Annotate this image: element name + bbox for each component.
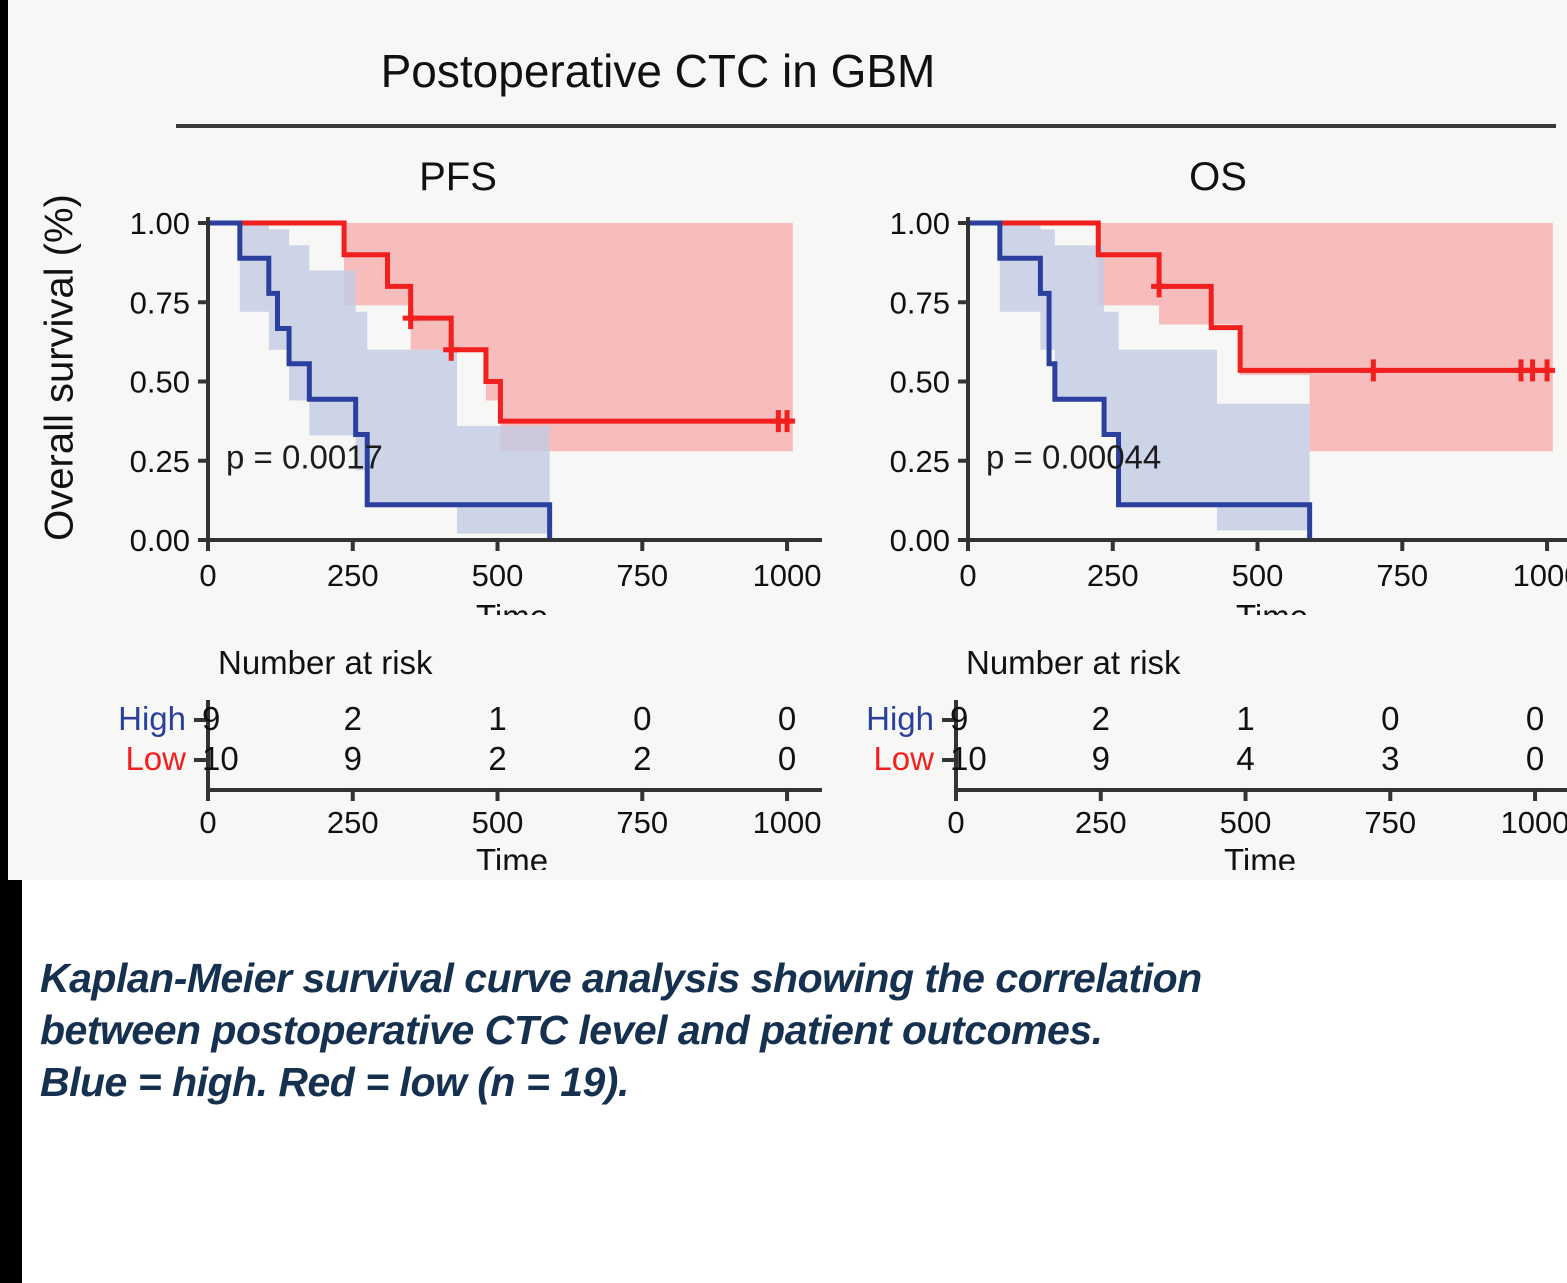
risk-x-tick-label: 1000: [753, 805, 822, 840]
risk-row-label-low: Low: [125, 740, 186, 777]
risk-cell: 2: [488, 740, 506, 777]
risk-x-tick-label: 1000: [1501, 805, 1567, 840]
x-axis-title: Time: [1236, 598, 1308, 615]
y-tick-label: 0.50: [130, 365, 190, 400]
risk-cell: 1: [488, 700, 506, 737]
risk-x-tick-label: 750: [616, 805, 668, 840]
x-axis-title: Time: [476, 598, 548, 615]
risk-cell: 0: [1381, 700, 1399, 737]
y-tick-label: 0.25: [890, 444, 950, 479]
caption-area: Kaplan-Meier survival curve analysis sho…: [22, 880, 1567, 1283]
risk-cell: 10: [202, 740, 239, 777]
risk-cell: 9: [1092, 740, 1110, 777]
x-tick-label: 750: [616, 558, 668, 593]
os-risk-table: Number at riskHigh92100Low10943002505007…: [816, 640, 1567, 870]
y-tick-label: 0.00: [890, 523, 950, 558]
x-tick-label: 0: [199, 558, 216, 593]
risk-cell: 3: [1381, 740, 1399, 777]
risk-row-label-low: Low: [873, 740, 934, 777]
risk-cell: 2: [1092, 700, 1110, 737]
x-tick-label: 1000: [753, 558, 822, 593]
x-tick-label: 750: [1376, 558, 1428, 593]
left-edge-bar: [0, 0, 8, 880]
os-survival-plot: 0.000.250.500.751.0002505007501000Timep …: [828, 195, 1567, 615]
risk-cell: 0: [1526, 740, 1544, 777]
risk-x-tick-label: 0: [199, 805, 216, 840]
risk-x-tick-label: 500: [472, 805, 524, 840]
risk-x-tick-label: 250: [1075, 805, 1127, 840]
y-tick-label: 0.50: [890, 365, 950, 400]
panel-title-os: OS: [1098, 155, 1338, 200]
figure-panel: Postoperative CTC in GBM Overall surviva…: [8, 0, 1567, 880]
risk-cell: 2: [344, 700, 362, 737]
x-tick-label: 0: [959, 558, 976, 593]
risk-cell: 2: [633, 740, 651, 777]
risk-x-tick-label: 0: [947, 805, 964, 840]
risk-cell: 0: [778, 740, 796, 777]
y-tick-label: 0.75: [890, 285, 950, 320]
x-tick-label: 250: [1087, 558, 1139, 593]
x-tick-label: 500: [1232, 558, 1284, 593]
caption-line-3: Blue = high. Red = low (n = 19).: [40, 1056, 1540, 1108]
pfs-survival-plot: 0.000.250.500.751.0002505007501000Timep …: [68, 195, 828, 615]
risk-x-axis-title: Time: [476, 842, 548, 870]
risk-row-label-high: High: [118, 700, 186, 737]
x-tick-label: 1000: [1513, 558, 1567, 593]
risk-cell: 9: [950, 700, 968, 737]
x-tick-label: 500: [472, 558, 524, 593]
risk-table-title: Number at risk: [966, 644, 1181, 681]
title-divider-rule: [176, 124, 1556, 128]
risk-table-title: Number at risk: [218, 644, 433, 681]
risk-x-tick-label: 250: [327, 805, 379, 840]
p-value-annotation: p = 0.0017: [226, 439, 383, 476]
y-tick-label: 0.00: [130, 523, 190, 558]
risk-cell: 9: [202, 700, 220, 737]
risk-cell: 0: [633, 700, 651, 737]
y-tick-label: 0.25: [130, 444, 190, 479]
y-tick-label: 1.00: [130, 206, 190, 241]
risk-row-label-high: High: [866, 700, 934, 737]
risk-cell: 9: [344, 740, 362, 777]
risk-cell: 0: [778, 700, 796, 737]
left-lower-edge-bar: [0, 880, 22, 1283]
x-tick-label: 250: [327, 558, 379, 593]
figure-title: Postoperative CTC in GBM: [8, 44, 1308, 98]
risk-x-tick-label: 750: [1364, 805, 1416, 840]
risk-x-tick-label: 500: [1220, 805, 1272, 840]
p-value-annotation: p = 0.00044: [986, 439, 1161, 476]
y-tick-label: 0.75: [130, 285, 190, 320]
caption-line-1: Kaplan-Meier survival curve analysis sho…: [40, 952, 1540, 1004]
risk-cell: 10: [950, 740, 987, 777]
risk-cell: 1: [1236, 700, 1254, 737]
y-tick-label: 1.00: [890, 206, 950, 241]
panel-title-pfs: PFS: [338, 155, 578, 200]
risk-x-axis-title: Time: [1224, 842, 1296, 870]
caption-line-2: between postoperative CTC level and pati…: [40, 1004, 1540, 1056]
risk-cell: 4: [1236, 740, 1254, 777]
risk-cell: 0: [1526, 700, 1544, 737]
pfs-risk-table: Number at riskHigh92100Low10922002505007…: [68, 640, 828, 870]
